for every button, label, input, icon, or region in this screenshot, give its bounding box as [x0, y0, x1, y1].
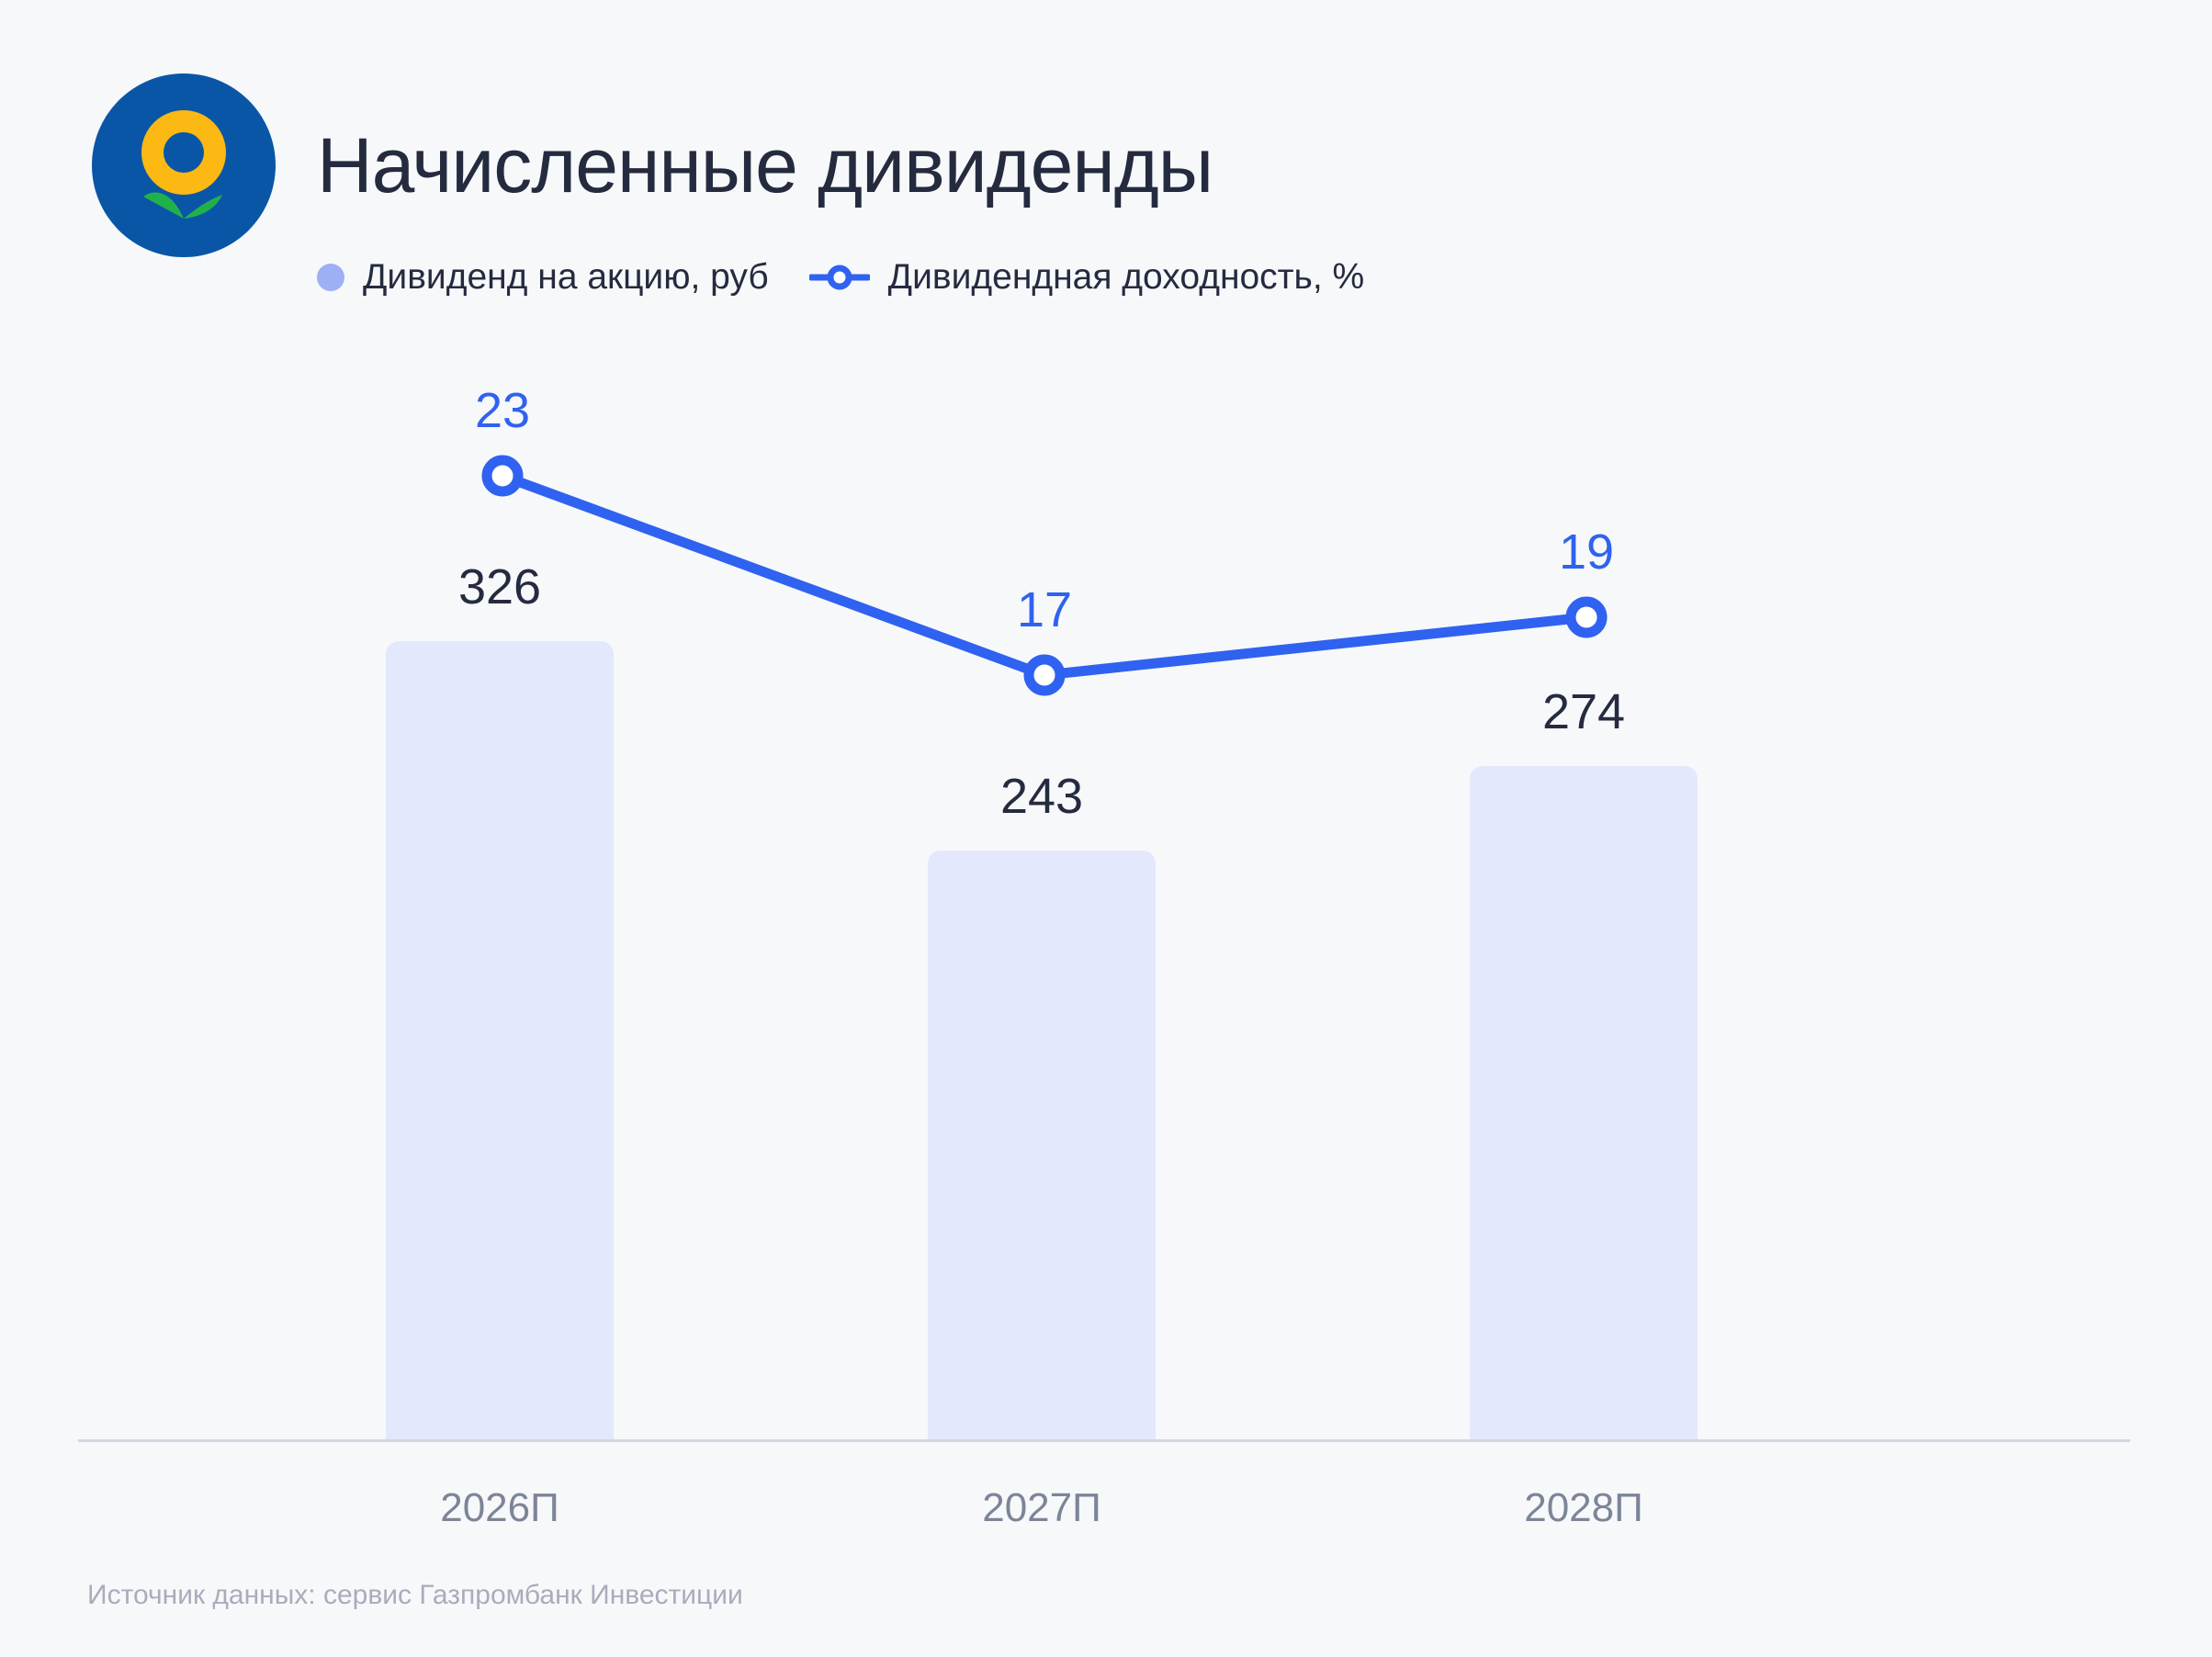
bar-2027[interactable] [928, 851, 1156, 1440]
legend-item-dividend-yield[interactable]: Дивидендная доходность, % [809, 259, 1365, 295]
bar-value-label: 274 [1470, 687, 1698, 737]
line-value-label: 19 [1476, 527, 1697, 577]
x-axis-label-2027: 2027П [928, 1488, 1156, 1528]
gazprombank-flower-logo-icon [92, 73, 276, 257]
chart-header: Начисленные дивиденды [92, 73, 1213, 257]
line-value-label: 17 [934, 585, 1155, 635]
line-value-label: 23 [392, 386, 613, 435]
x-axis-label-2028: 2028П [1470, 1488, 1698, 1528]
line-marker-2026 [487, 460, 518, 491]
bar-value-label: 326 [386, 562, 614, 612]
page-title: Начисленные дивиденды [317, 127, 1213, 204]
legend-dot-icon [317, 264, 344, 291]
bar-2028[interactable] [1470, 766, 1698, 1440]
legend-item-label: Дивидендная доходность, % [888, 259, 1365, 295]
line-path [502, 476, 1586, 675]
x-axis-label-2026: 2026П [386, 1488, 614, 1528]
line-marker-2028 [1571, 602, 1602, 633]
chart-legend: Дивиденд на акцию, руб Дивидендная доход… [317, 259, 1364, 295]
legend-item-dividend-per-share[interactable]: Дивиденд на акцию, руб [317, 259, 769, 295]
bar-value-label: 243 [928, 772, 1156, 821]
chart-page: Начисленные дивиденды Дивиденд на акцию,… [0, 0, 2212, 1657]
legend-line-marker-icon [809, 264, 870, 291]
line-marker-2027 [1029, 659, 1060, 691]
legend-item-label: Дивиденд на акцию, руб [363, 259, 769, 295]
x-axis-line [78, 1439, 2130, 1442]
bar-2026[interactable] [386, 641, 614, 1440]
data-source-note: Источник данных: сервис Газпромбанк Инве… [87, 1582, 743, 1609]
